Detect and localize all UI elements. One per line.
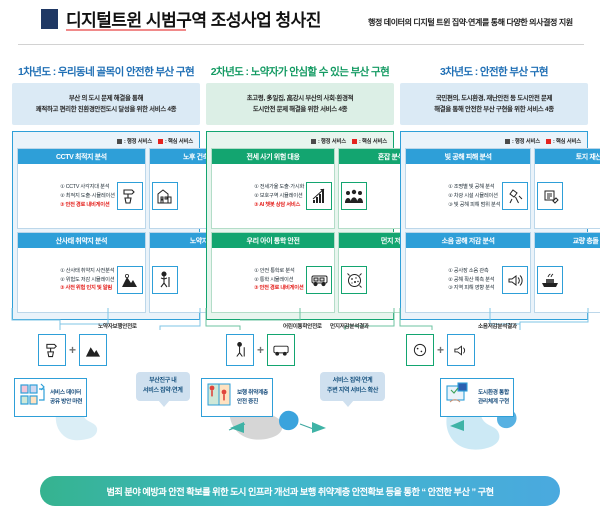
pedestrian-map-icon xyxy=(206,382,234,413)
callout-integrated-mgmt[interactable]: 도시환경 통합관리체계 구현 xyxy=(440,378,514,417)
legend: : 행정 서비스 : 핵심 서비스 xyxy=(405,136,583,148)
connector-pair: + xyxy=(406,334,475,366)
landslide-icon xyxy=(79,334,107,366)
cctv-camera-icon xyxy=(117,182,143,210)
card-title: CCTV 최적지 분석 xyxy=(18,149,145,164)
bullet: ② 최적지 도출·시뮬레이션 xyxy=(60,192,115,201)
bullet: ③ 빛 공해 피해 범위 분석 xyxy=(448,201,500,210)
connector-label: 노약자보행안전로 xyxy=(98,322,137,330)
page-subtitle: 행정 데이터의 디지털 트윈 집약·연계를 통해 다양한 의사결정 지원 xyxy=(368,17,573,28)
callout-data-share[interactable]: 서비스 데이터공유 방안 마련 xyxy=(14,378,87,417)
legend-core-label: : 핵심 서비스 xyxy=(359,137,387,145)
plus-sign-icon: + xyxy=(437,344,444,356)
bridge-collision-icon xyxy=(537,266,563,294)
connector-label: 먼지저감분석결과 xyxy=(330,322,369,330)
bubble-bujin-gu: 부산진구 내서비스 집약·연계 xyxy=(136,372,190,401)
legend: : 행정 서비스 : 핵심 서비스 xyxy=(17,136,195,148)
card-bullets: ① 산사태 취약지 사전분석 ② 위험도 저감 시뮬레이션 ③ 사전 위험 인지… xyxy=(20,267,115,293)
year1-heading: 1차년도 : 우리동네 골목이 안전한 부산 구현 xyxy=(12,64,200,83)
year1-card-area: : 행정 서비스 : 핵심 서비스 CCTV 최적지 분석 ① CCTV 사각지… xyxy=(12,131,200,319)
legend-core-swatch-icon xyxy=(546,139,551,144)
card-bullets: ① 조명별 빛 공해 분석 ② 차광 시설 시뮬레이션 ③ 빛 공해 피해 범위… xyxy=(408,183,500,209)
noise-icon xyxy=(502,266,528,294)
callout-walk-safety[interactable]: 보행 취약계층안전 증진 xyxy=(201,378,273,417)
light-pollution-icon xyxy=(502,182,528,210)
elderly-person-icon xyxy=(152,266,178,294)
year1-description: 부산 의 도시 문제 해결을 통해쾌적하고 편리한 친환경안전도시 달성을 위한… xyxy=(12,83,200,125)
bullet: ① 조명별 빛 공해 분석 xyxy=(448,183,500,192)
bullet: ① 전세가율 도출·가시화 xyxy=(254,183,304,192)
year2-card-area: : 행정 서비스 : 핵심 서비스 전세 사기 위험 대응 ① 전세가율 도출·… xyxy=(206,131,394,319)
legend-core-swatch-icon xyxy=(352,139,357,144)
year2-cards: 전세 사기 위험 대응 ① 전세가율 도출·가시화 ② 보호구역 시뮬레이션 ③… xyxy=(211,148,389,312)
header-divider xyxy=(18,44,584,45)
growth-chart-icon xyxy=(306,182,332,210)
bullet: ③ 지역 피해 영향 분석 xyxy=(448,284,500,293)
card-bullets: ① 관련 법제도 분석 ② 토지 이용 관리 지원 ③ AI 챗봇 상담 서비스 xyxy=(565,183,600,209)
year2-column: 2차년도 : 노약자가 안심할 수 있는 부산 구현 초고령, 多일집, 高강시… xyxy=(206,64,394,320)
bullet-highlight: ③ 안전 경로 내비게이션 xyxy=(254,284,304,293)
dust-particle-icon xyxy=(341,266,367,294)
cctv-camera-icon xyxy=(38,334,66,366)
year3-card-area: : 행정 서비스 : 핵심 서비스 빛 공해 피해 분석 ① 조명별 빛 공해 … xyxy=(400,131,588,319)
bullet: ② 차광 시설 시뮬레이션 xyxy=(448,192,500,201)
callout-label: 도시환경 통합관리체계 구현 xyxy=(478,389,509,407)
year2-heading: 2차년도 : 노약자가 안심할 수 있는 부산 구현 xyxy=(206,64,394,83)
bullet: ② 위험도 저감 시뮬레이션 xyxy=(60,276,115,285)
plus-sign-icon: + xyxy=(257,344,264,356)
data-share-icon xyxy=(19,382,47,413)
bullet: ② 공해 확산 예측 분석 xyxy=(448,276,500,285)
map-zone: 서비스 데이터공유 방안 마련 부산진구 내서비스 집약·연계 보행 취약계층안… xyxy=(0,372,600,464)
crowd-icon xyxy=(341,182,367,210)
legend-core: : 핵심 서비스 xyxy=(352,137,387,145)
elderly-person-icon xyxy=(226,334,254,366)
service-card[interactable]: 전세 사기 위험 대응 ① 전세가율 도출·가시화 ② 보호구역 시뮬레이션 ③… xyxy=(211,148,335,229)
card-title: 산사태 취약지 분석 xyxy=(18,233,145,248)
summary-banner: 범죄 분야 예방과 안전 확보를 위한 도시 인프라 개선과 보행 취약계층 안… xyxy=(40,476,560,506)
card-title: 소음 공해 저감 분석 xyxy=(406,233,530,248)
page-header: 디지털트윈 시범구역 조성사업 청사진 행정 데이터의 디지털 트윈 집약·연계… xyxy=(0,0,600,45)
card-title: 토지 재산권 관리 xyxy=(535,149,600,164)
service-card[interactable]: 산사태 취약지 분석 ① 산사태 취약지 사전분석 ② 위험도 저감 시뮬레이션… xyxy=(17,232,146,313)
year3-cards: 빛 공해 피해 분석 ① 조명별 빛 공해 분석 ② 차광 시설 시뮬레이션 ③… xyxy=(405,148,583,312)
connector-pair: + xyxy=(38,334,107,366)
legend-admin: : 행정 서비스 xyxy=(505,137,540,145)
legend-core-swatch-icon xyxy=(158,139,163,144)
legend-admin-swatch-icon xyxy=(505,139,510,144)
card-bullets: ① 공사장 소음 관측 ② 공해 확산 예측 분석 ③ 지역 피해 영향 분석 xyxy=(408,267,500,293)
card-title: 우리 아이 통학 안전 xyxy=(212,233,334,248)
old-building-icon xyxy=(152,182,178,210)
bullet: ② 통학 시뮬레이션 xyxy=(254,276,304,285)
navy-square-bullet-icon xyxy=(41,9,58,29)
bullet-highlight: ③ 사전 위험 인지 및 알림 xyxy=(60,284,115,293)
land-deed-icon xyxy=(537,182,563,210)
connector-label: 소음저감분석결과 xyxy=(478,322,517,330)
callout-label: 서비스 데이터공유 방안 마련 xyxy=(50,389,82,407)
legend-admin-label: : 행정 서비스 xyxy=(318,137,346,145)
service-card[interactable]: CCTV 최적지 분석 ① CCTV 사각지대 분석 ② 최적지 도출·시뮬레이… xyxy=(17,148,146,229)
card-title: 교량 충돌 사고대응 xyxy=(535,233,600,248)
card-bullets: ① 전세가율 도출·가시화 ② 보호구역 시뮬레이션 ③ AI 챗봇 상담 서비… xyxy=(214,183,304,209)
bullet: ① CCTV 사각지대 분석 xyxy=(60,183,115,192)
year3-column: 3차년도 : 안전한 부산 구현 국민편의, 도시환경, 재난안전 등 도시안전… xyxy=(400,64,588,320)
legend-admin-label: : 행정 서비스 xyxy=(124,137,152,145)
legend-admin-label: : 행정 서비스 xyxy=(512,137,540,145)
bullet: ① 공사장 소음 관측 xyxy=(448,267,500,276)
legend-core: : 핵심 서비스 xyxy=(158,137,193,145)
card-title: 빛 공해 피해 분석 xyxy=(406,149,530,164)
callout-label: 보행 취약계층안전 증진 xyxy=(237,389,268,407)
legend-admin-swatch-icon xyxy=(311,139,316,144)
year3-description: 국민편의, 도시환경, 재난안전 등 도시안전 문제해결을 통해 안전한 부산 … xyxy=(400,83,588,125)
connector-label: 어린이통학안전로 xyxy=(283,322,322,330)
service-card[interactable]: 우리 아이 통학 안전 ① 안전 통학로 분석 ② 통학 시뮬레이션 ③ 안전 … xyxy=(211,232,335,313)
service-card[interactable]: 토지 재산권 관리 ① 관련 법제도 분석 ② 토지 이용 관리 지원 ③ AI… xyxy=(534,148,600,229)
legend-core-label: : 핵심 서비스 xyxy=(165,137,193,145)
school-bus-icon xyxy=(306,266,332,294)
service-card[interactable]: 교량 충돌 사고대응 ① 실시간 해양 정보 연계 ② 충돌 시뮬레이션 ③ 사… xyxy=(534,232,600,313)
noise-icon xyxy=(447,334,475,366)
dust-particle-icon xyxy=(406,334,434,366)
legend-admin: : 행정 서비스 xyxy=(311,137,346,145)
connector-pair: + xyxy=(226,334,295,366)
legend-admin: : 행정 서비스 xyxy=(117,137,152,145)
service-card[interactable]: 소음 공해 저감 분석 ① 공사장 소음 관측 ② 공해 확산 예측 분석 ③ … xyxy=(405,232,531,313)
year3-heading: 3차년도 : 안전한 부산 구현 xyxy=(400,64,588,83)
legend-core: : 핵심 서비스 xyxy=(546,137,581,145)
service-card[interactable]: 빛 공해 피해 분석 ① 조명별 빛 공해 분석 ② 차광 시설 시뮬레이션 ③… xyxy=(405,148,531,229)
bullet-highlight: ③ AI 챗봇 상담 서비스 xyxy=(254,201,304,210)
card-title: 전세 사기 위험 대응 xyxy=(212,149,334,164)
year2-description: 초고령, 多일집, 高강시 부산의 사회·환경적도시안전 문제 해결을 위한 서… xyxy=(206,83,394,125)
school-bus-icon xyxy=(267,334,295,366)
tablet-control-icon xyxy=(445,382,475,413)
bubble-spread: 서비스 집약·연계주변 지역 서비스 확산 xyxy=(320,372,385,401)
bullet: ① 산사태 취약지 사전분석 xyxy=(60,267,115,276)
bullet: ① 안전 통학로 분석 xyxy=(254,267,304,276)
card-bullets: ① 안전 통학로 분석 ② 통학 시뮬레이션 ③ 안전 경로 내비게이션 xyxy=(214,267,304,293)
card-bullets: ① CCTV 사각지대 분석 ② 최적지 도출·시뮬레이션 ③ 안전 경로 내비… xyxy=(20,183,115,209)
legend-core-label: : 핵심 서비스 xyxy=(553,137,581,145)
landslide-icon xyxy=(117,266,143,294)
legend-admin-swatch-icon xyxy=(117,139,122,144)
bullet-highlight: ③ 안전 경로 내비게이션 xyxy=(60,201,115,210)
card-bullets: ① 실시간 해양 정보 연계 ② 충돌 시뮬레이션 ③ 사고대응 의사결정 지원 xyxy=(565,267,600,293)
year1-column: 1차년도 : 우리동네 골목이 안전한 부산 구현 부산 의 도시 문제 해결을… xyxy=(12,64,200,320)
plus-sign-icon: + xyxy=(69,344,76,356)
title-underline xyxy=(66,29,186,31)
bullet: ② 보호구역 시뮬레이션 xyxy=(254,192,304,201)
connector-zone: 노약자보행안전로 + 어린이통학안전로 + 먼지저감분석결과 + 소음저감분석결… xyxy=(0,306,600,372)
legend: : 행정 서비스 : 핵심 서비스 xyxy=(211,136,389,148)
page-title: 디지털트윈 시범구역 조성사업 청사진 xyxy=(66,6,321,31)
year1-cards: CCTV 최적지 분석 ① CCTV 사각지대 분석 ② 최적지 도출·시뮬레이… xyxy=(17,148,195,312)
